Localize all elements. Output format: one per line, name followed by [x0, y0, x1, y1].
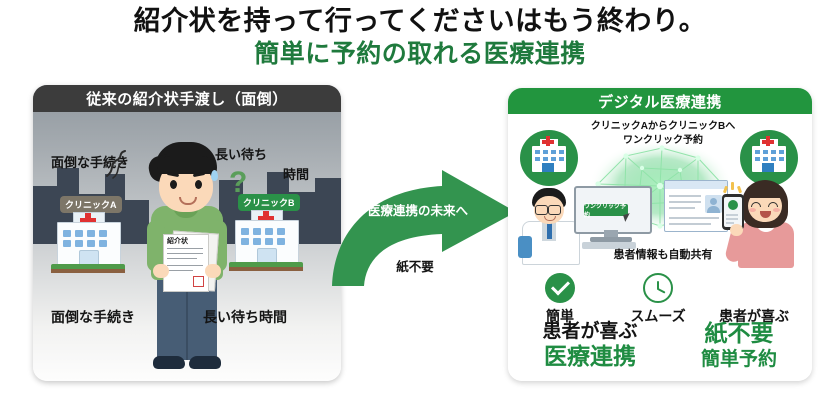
digital-panel-body: クリニックAからクリニックBへ ワンクリック予約	[508, 114, 812, 381]
feature-smooth: スムーズ	[612, 272, 704, 326]
hospital-building-a-icon	[51, 210, 125, 272]
slogan-right: 紙不要 簡単予約	[672, 320, 806, 371]
one-click-booking-button[interactable]: ワンクリック予約	[584, 204, 628, 216]
title-line-2: 簡単に予約の取れる医療連携	[0, 40, 840, 70]
arrow-label: 医療連携の未来へ	[354, 200, 482, 219]
sparkle-icon	[723, 186, 728, 194]
happy-patient-icon	[708, 272, 800, 304]
feature-easy: 簡単	[514, 272, 606, 326]
infographic-canvas: 紹介状を持って行ってくださいはもう終わり。 簡単に予約の取れる医療連携 従来の紹…	[0, 0, 840, 400]
label-time-top: 時間	[283, 164, 309, 183]
slogan-left-line-2: 医療連携	[514, 343, 666, 370]
referral-letter-document: 紹介状	[163, 232, 213, 292]
check-circle-icon	[514, 272, 606, 304]
phone-check-icon	[728, 200, 738, 210]
analog-panel-header: 従来の紹介状手渡し（面倒）	[33, 85, 341, 112]
digital-panel-header: デジタル医療連携	[508, 88, 812, 114]
slogan-left-line-1: 患者が喜ぶ	[514, 320, 666, 343]
slogan-right-line-1: 紙不要	[672, 320, 806, 348]
title-line-1: 紹介状を持って行ってくださいはもう終わり。	[0, 6, 840, 38]
page-title: 紹介状を持って行ってくださいはもう終わり。 簡単に予約の取れる医療連携	[0, 6, 840, 69]
referral-letter-title: 紹介状	[167, 236, 188, 246]
label-long-wait-bottom: 長い待ち時間	[203, 307, 287, 327]
sparkle-icon	[731, 182, 734, 190]
digital-caption-line-1: クリニックAからクリニックBへ	[568, 120, 758, 134]
happy-patient-illustration	[728, 180, 804, 268]
auto-share-label: 患者情報も自動共有	[588, 246, 738, 262]
analog-panel-body: 面倒な手続き 長い待ち 時間 クリニックA クリニックB	[33, 112, 341, 381]
clinic-a-circle-icon	[520, 130, 578, 186]
transition-arrow: 医療連携の未来へ 紙不要	[330, 168, 520, 293]
sparkle-icon	[737, 186, 742, 194]
slogan-right-line-2: 簡単予約	[672, 348, 806, 371]
stress-squiggle-icon	[105, 150, 139, 180]
feature-patient-happy: 患者が喜ぶ	[708, 272, 800, 326]
slogan-left: 患者が喜ぶ 医療連携	[514, 320, 666, 370]
clock-icon	[612, 272, 704, 304]
hospital-building-b-icon	[229, 208, 303, 270]
analog-workflow-panel: 従来の紹介状手渡し（面倒） 面倒な手続き 長い待ち 時間 クリニックA クリニッ…	[33, 85, 341, 381]
digital-workflow-panel: デジタル医療連携 クリニックAからクリニックBへ ワンクリック予約	[508, 88, 812, 381]
label-troublesome-procedure-bottom: 面倒な手続き	[51, 307, 135, 327]
arrow-note-paperless: 紙不要	[360, 256, 470, 275]
patient-record-card	[664, 180, 728, 232]
clinic-b-circle-icon	[740, 130, 798, 186]
desktop-monitor: ワンクリック予約	[574, 186, 650, 248]
troubled-patient-illustration: 紹介状	[137, 140, 237, 380]
